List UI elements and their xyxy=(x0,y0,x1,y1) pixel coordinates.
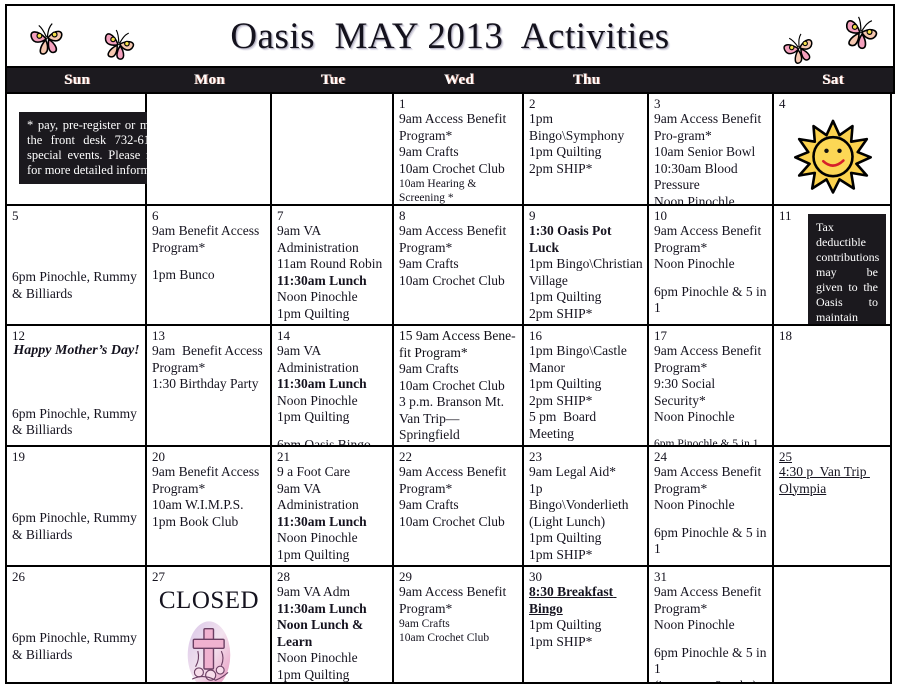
day-cell-31[interactable]: 319am Access Benefit Program*Noon Pinoch… xyxy=(649,567,774,684)
day-number: 23 xyxy=(529,449,643,464)
event-item[interactable]: 9am Benefit Access Program* xyxy=(152,343,266,376)
event-item[interactable]: Noon Pinochle xyxy=(654,617,768,634)
event-item[interactable]: 11:30am Lunch xyxy=(277,376,388,393)
day-cell-3[interactable]: 39am Access Benefit Pro-gram*10am Senior… xyxy=(649,94,774,206)
event-item[interactable]: 10am Crochet Club xyxy=(399,514,518,531)
event-spacer xyxy=(654,426,768,437)
event-item[interactable]: 9am Crafts xyxy=(399,256,518,273)
event-item[interactable]: 1p Bingo\Vonderlieth (Light Lunch) xyxy=(529,481,643,531)
event-item[interactable]: 1pm Quilting xyxy=(529,617,643,634)
day-number: 8 xyxy=(399,208,518,223)
butterfly-icon xyxy=(836,7,886,57)
event-item[interactable]: 9am Benefit Access Program* xyxy=(152,223,266,256)
event-item[interactable]: 9am Benefit Access Program* xyxy=(152,464,266,497)
event-item[interactable]: 6pm Oasis Bingo xyxy=(277,683,388,684)
day-cell-7[interactable]: 79am VA Administration11am Round Robin11… xyxy=(272,206,394,326)
event-item[interactable]: 6pm Pinochle & 5 in 1 xyxy=(654,525,768,558)
day-cell-empty[interactable]: * pay, pre-register or make an appointme… xyxy=(7,94,147,206)
event-item[interactable]: 9am Access Benefit Program* xyxy=(399,111,518,144)
event-item[interactable]: Noon Pinochle xyxy=(277,289,388,306)
day-cell-24[interactable]: 249am Access Benefit Program*Noon Pinoch… xyxy=(649,447,774,567)
sun-smiley-icon xyxy=(779,117,886,195)
butterfly-icon xyxy=(96,21,142,66)
day-cell-16[interactable]: 161pm Bingo\Castle Manor1pm Quilting2pm … xyxy=(524,326,649,447)
event-item[interactable]: 1pm Bingo\Symphony xyxy=(529,111,643,144)
day-number: 21 xyxy=(277,449,388,464)
event-item[interactable]: 9am VA Administration xyxy=(277,481,388,514)
event-spacer xyxy=(654,514,768,525)
weekday-sun: Sun xyxy=(7,68,147,92)
day-number: 31 xyxy=(654,569,768,584)
day-number: 18 xyxy=(779,328,886,343)
day-number: 28 xyxy=(277,569,388,584)
event-item[interactable]: 9am Legal Aid* xyxy=(529,464,643,481)
title-banner: Oasis MAY 2013 Activities xyxy=(5,4,895,66)
event-item[interactable]: 9am Crafts xyxy=(399,361,518,378)
event-item[interactable]: 9am Access Benefit Program* xyxy=(654,343,768,376)
event-item[interactable]: 9am Access Benefit Program* xyxy=(399,464,518,497)
event-item[interactable]: 6pm Pinochle, Rummy & Billiards xyxy=(12,406,141,439)
day-number: 4 xyxy=(779,96,886,111)
event-item[interactable]: 9am Access Benefit Program* xyxy=(654,584,768,617)
event-item[interactable]: 1pm Quilting xyxy=(277,547,388,564)
event-item[interactable]: 9 a Foot Care xyxy=(277,464,388,481)
event-item[interactable]: 1pm Quilting xyxy=(529,144,643,161)
event-item[interactable]: 6pm Pinochle, Rummy & Billiards xyxy=(12,510,141,543)
event-item[interactable]: 10am Senior Bowl xyxy=(654,144,768,161)
cross-flowers-icon xyxy=(152,618,266,684)
donation-note-box: Tax deductible contributions may be give… xyxy=(808,214,886,326)
event-item[interactable]: 2pm SHIP* xyxy=(529,306,643,323)
event-item[interactable]: 1:30 Oasis Pot Luck xyxy=(529,223,643,256)
day-cell-11[interactable]: 11Tax deductible contributions may be gi… xyxy=(774,206,892,326)
event-item[interactable]: 2pm SHIP* xyxy=(529,161,643,178)
day-cell-27[interactable]: 27CLOSED xyxy=(147,567,272,684)
weekday-tue: Tue xyxy=(272,68,394,92)
calendar-page: Oasis MAY 2013 Activities xyxy=(0,0,900,686)
event-item[interactable]: 1pm Bingo\Christian Village xyxy=(529,256,643,289)
event-item[interactable]: 1pm SHIP* xyxy=(529,634,643,651)
event-item[interactable]: 2pm SHIP* xyxy=(529,393,643,410)
weekday-mon: Mon xyxy=(147,68,272,92)
day-number: 5 xyxy=(12,208,141,223)
day-number: 26 xyxy=(12,569,141,584)
day-cell-21[interactable]: 219 a Foot Care9am VA Administration11:3… xyxy=(272,447,394,567)
day-number: 9 xyxy=(529,208,643,223)
event-item[interactable]: 10am Crochet Club xyxy=(399,273,518,290)
event-item[interactable]: 10am Hearing & Screening * xyxy=(399,177,518,205)
day-cell-6[interactable]: 69am Benefit Access Program*1pm Bunco xyxy=(147,206,272,326)
event-item[interactable]: 1pm Quilting xyxy=(529,289,643,306)
butterfly-icon xyxy=(775,24,822,66)
weekday-header-row: Sun Mon Tue Wed Thu Sat xyxy=(5,66,895,92)
event-item[interactable]: 6pm Pinochle & 5 in 1 xyxy=(654,437,768,448)
day-number: 27 xyxy=(152,569,266,584)
day-cell-22[interactable]: 229am Access Benefit Program*9am Crafts1… xyxy=(394,447,524,567)
event-item[interactable]: Noon Lunch & Learn xyxy=(277,617,388,650)
day-cell-12[interactable]: 12Happy Mother’s Day!6pm Pinochle, Rummy… xyxy=(7,326,147,447)
event-item[interactable]: 9am VA Adm xyxy=(277,584,388,601)
event-spacer xyxy=(12,464,141,510)
day-cell-25[interactable]: 254:30 p Van Trip Olympia xyxy=(774,447,892,567)
day-cell-13[interactable]: 139am Benefit Access Program*1:30 Birthd… xyxy=(147,326,272,447)
day-number: 13 xyxy=(152,328,266,343)
event-item[interactable]: 3 p.m. Branson Mt. Van Trip—Springfield xyxy=(399,394,518,444)
event-item[interactable]: 10am Crochet Club xyxy=(399,378,518,395)
day-number: 20 xyxy=(152,449,266,464)
event-item[interactable]: Noon Pinochle xyxy=(277,530,388,547)
event-spacer xyxy=(12,223,141,269)
event-item[interactable]: 1pm Quilting xyxy=(277,409,388,426)
day-cell-18[interactable]: 18 xyxy=(774,326,892,447)
event-item[interactable]: 1pm Quilting xyxy=(529,530,643,547)
event-item[interactable]: Happy Mother’s Day! xyxy=(12,343,141,360)
calendar-grid: * pay, pre-register or make an appointme… xyxy=(5,92,895,684)
day-number-with-event: 15 9am Access Bene-fit Program* xyxy=(399,328,518,361)
event-item[interactable]: Noon Pinochle xyxy=(654,409,768,426)
day-cell-5[interactable]: 56pm Pinochle, Rummy & Billiards xyxy=(7,206,147,326)
day-cell-4[interactable]: 4 xyxy=(774,94,892,206)
event-item[interactable]: 8:30 Breakfast Bingo xyxy=(529,584,643,617)
event-item[interactable]: 11:30am Lunch xyxy=(277,273,388,290)
event-spacer xyxy=(152,256,266,267)
butterfly-icon xyxy=(24,15,69,60)
event-item[interactable]: 9am Crafts xyxy=(399,497,518,514)
event-spacer xyxy=(654,634,768,645)
event-item[interactable]: Noon Pinochle xyxy=(654,256,768,273)
day-cell-15[interactable]: 15 9am Access Bene-fit Program*9am Craft… xyxy=(394,326,524,447)
day-number: 24 xyxy=(654,449,768,464)
event-item[interactable]: 9:30 Social Security* xyxy=(654,376,768,409)
weekday-sat: Sat xyxy=(774,68,892,92)
day-cell-8[interactable]: 89am Access Benefit Program*9am Crafts10… xyxy=(394,206,524,326)
event-item[interactable]: 10am Crochet Club xyxy=(399,161,518,178)
event-item[interactable]: 11:30am Lunch xyxy=(277,601,388,618)
event-item[interactable]: 6pm Pinochle & 5 in 1 xyxy=(654,645,768,678)
day-cell-23[interactable]: 239am Legal Aid*1p Bingo\Vonderlieth (Li… xyxy=(524,447,649,567)
day-number: 10 xyxy=(654,208,768,223)
event-item[interactable]: 9am VA Administration xyxy=(277,223,388,256)
day-number: 17 xyxy=(654,328,768,343)
day-number: 1 xyxy=(399,96,518,111)
page-title: Oasis MAY 2013 Activities xyxy=(230,15,669,58)
day-number: 6 xyxy=(152,208,266,223)
event-item[interactable]: 10am W.I.M.P.S. xyxy=(152,497,266,514)
day-cell-14[interactable]: 149am VA Administration11:30am LunchNoon… xyxy=(272,326,394,447)
day-cell-17[interactable]: 179am Access Benefit Program*9:30 Social… xyxy=(649,326,774,447)
event-item[interactable]: Noon Pinochle xyxy=(654,194,768,207)
day-cell-26[interactable]: 266pm Pinochle, Rummy & Billiards xyxy=(7,567,147,684)
day-number: 30 xyxy=(529,569,643,584)
event-item[interactable]: 11am Round Robin xyxy=(277,256,388,273)
event-item[interactable]: Noon Pinochle xyxy=(277,650,388,667)
event-item[interactable]: 1pm Book Club xyxy=(152,514,266,531)
event-item[interactable]: 6pm Pinochle, Rummy & Billiards xyxy=(12,630,141,663)
day-number: 19 xyxy=(12,449,141,464)
event-item[interactable]: 11:30am Lunch xyxy=(277,514,388,531)
event-item[interactable]: (ice cream & cake) xyxy=(654,678,768,685)
event-item[interactable]: 4:30 p Van Trip Olympia xyxy=(779,464,886,497)
day-cell-1[interactable]: 19am Access Benefit Program*9am Crafts10… xyxy=(394,94,524,206)
weekday-wed: Wed xyxy=(394,68,524,92)
day-number: 3 xyxy=(654,96,768,111)
event-item[interactable]: 1pm SHIP* xyxy=(529,547,643,564)
event-item[interactable]: 10:30am Blood Pressure xyxy=(654,161,768,194)
day-number: 14 xyxy=(277,328,388,343)
event-item[interactable]: Noon Pinochle xyxy=(654,497,768,514)
event-item[interactable]: 1pm Bingo\Castle Manor xyxy=(529,343,643,376)
closed-label: CLOSED xyxy=(152,586,266,616)
event-item[interactable]: 9am Crafts xyxy=(399,144,518,161)
day-cell-30[interactable]: 308:30 Breakfast Bingo1pm Quilting1pm SH… xyxy=(524,567,649,684)
day-cell-empty[interactable] xyxy=(272,94,394,206)
event-item[interactable]: 1:30 Birthday Party xyxy=(152,376,266,393)
event-item[interactable]: 9am Access Benefit Program* xyxy=(399,584,518,617)
day-number: 29 xyxy=(399,569,518,584)
event-item[interactable]: 5 pm Board Meeting xyxy=(529,409,643,442)
event-item[interactable]: 9am Crafts xyxy=(399,617,518,631)
day-cell-empty[interactable] xyxy=(147,94,272,206)
event-item[interactable]: Noon Pinochle xyxy=(277,393,388,410)
day-cell-20[interactable]: 209am Benefit Access Program*10am W.I.M.… xyxy=(147,447,272,567)
day-cell-9[interactable]: 91:30 Oasis Pot Luck1pm Bingo\Christian … xyxy=(524,206,649,326)
event-item[interactable]: 1pm Quilting xyxy=(277,306,388,323)
day-cell-10[interactable]: 109am Access Benefit Program*Noon Pinoch… xyxy=(649,206,774,326)
event-item[interactable]: 10am Crochet Club xyxy=(399,631,518,645)
event-item[interactable]: 6pm Pinochle, Rummy & Billiards xyxy=(12,269,141,302)
event-spacer xyxy=(12,360,141,406)
event-item[interactable]: 1pm Quilting xyxy=(277,667,388,684)
event-item[interactable]: 9am Access Benefit Program* xyxy=(654,223,768,256)
weekday-thu: Thu xyxy=(524,68,649,92)
day-number: 16 xyxy=(529,328,643,343)
event-item[interactable]: 9am Access Benefit Pro-gram* xyxy=(654,111,768,144)
day-cell-29[interactable]: 299am Access Benefit Program*9am Crafts1… xyxy=(394,567,524,684)
day-number: 12 xyxy=(12,328,141,343)
event-item[interactable]: 1pm Quilting xyxy=(529,376,643,393)
day-number: 22 xyxy=(399,449,518,464)
day-cell-28[interactable]: 289am VA Adm11:30am LunchNoon Lunch & Le… xyxy=(272,567,394,684)
event-item[interactable]: 1pm Bunco xyxy=(152,267,266,284)
event-item[interactable]: 9am Access Benefit Program* xyxy=(399,223,518,256)
weekday-fri xyxy=(649,68,774,92)
event-spacer xyxy=(277,426,388,437)
day-cell-empty[interactable] xyxy=(774,567,892,684)
day-cell-19[interactable]: 196pm Pinochle, Rummy & Billiards xyxy=(7,447,147,567)
event-spacer xyxy=(654,273,768,284)
event-item[interactable]: 6pm Pinochle & 5 in 1 xyxy=(654,284,768,317)
day-number: 7 xyxy=(277,208,388,223)
event-item[interactable]: 9am VA Administration xyxy=(277,343,388,376)
event-spacer xyxy=(12,584,141,630)
event-item[interactable]: 9am Access Benefit Program* xyxy=(654,464,768,497)
event-item[interactable]: 6pm Oasis Bingo xyxy=(277,437,388,448)
day-number: 2 xyxy=(529,96,643,111)
day-number: 25 xyxy=(779,449,886,464)
day-cell-2[interactable]: 21pm Bingo\Symphony1pm Quilting2pm SHIP* xyxy=(524,94,649,206)
